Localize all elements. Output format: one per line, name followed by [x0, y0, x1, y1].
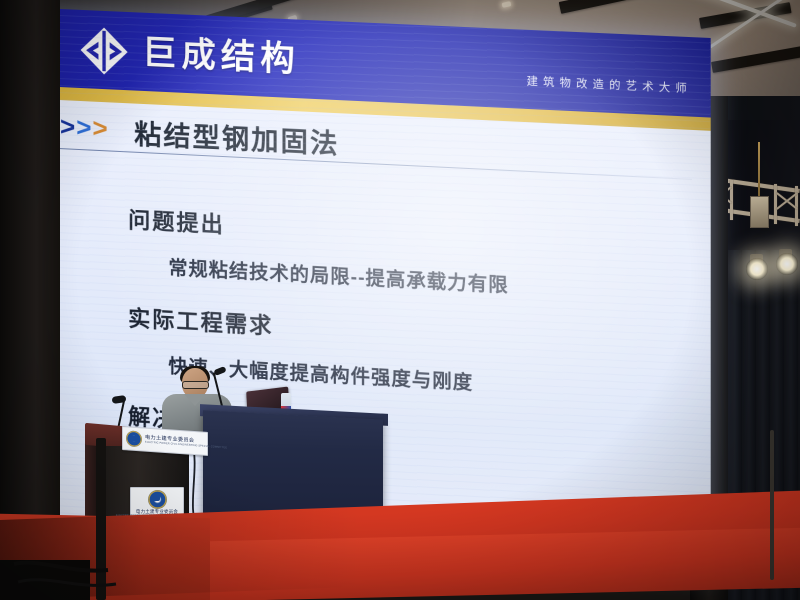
left-wall [0, 0, 60, 600]
jucheng-diamond-logo-icon [76, 22, 132, 81]
spotlight-icon [746, 258, 768, 280]
slide-heading-2: 实际工程需求 [128, 301, 273, 341]
presentation-photo-scene: 巨成结构 建筑物改造的艺术大师 > > > 粘结型钢加固法 问题提出 常规粘结技… [0, 0, 800, 600]
podium-committee-sign: 电力土建专业委员会 ELECTRIC POWER CIVIL ENGINEERI… [130, 487, 184, 517]
chevron-right-icon: > [76, 114, 91, 141]
title-divider [60, 148, 692, 180]
brand-name: 巨成结构 [142, 31, 300, 82]
glasses-icon [182, 381, 209, 389]
light-stand-pole [770, 430, 774, 580]
floor-cable [12, 556, 132, 600]
see-logo-icon [148, 490, 167, 509]
chevron-right-icon: > [60, 113, 75, 140]
chevron-right-icon: > [92, 115, 107, 142]
spotlight-icon [776, 253, 798, 275]
title-chevrons: > > > [60, 113, 108, 141]
slide-subtext-1: 常规粘结技术的局限--提高承载力有限 [168, 253, 508, 298]
see-logo-icon [126, 430, 142, 447]
slide-heading-1: 问题提出 [128, 203, 225, 240]
